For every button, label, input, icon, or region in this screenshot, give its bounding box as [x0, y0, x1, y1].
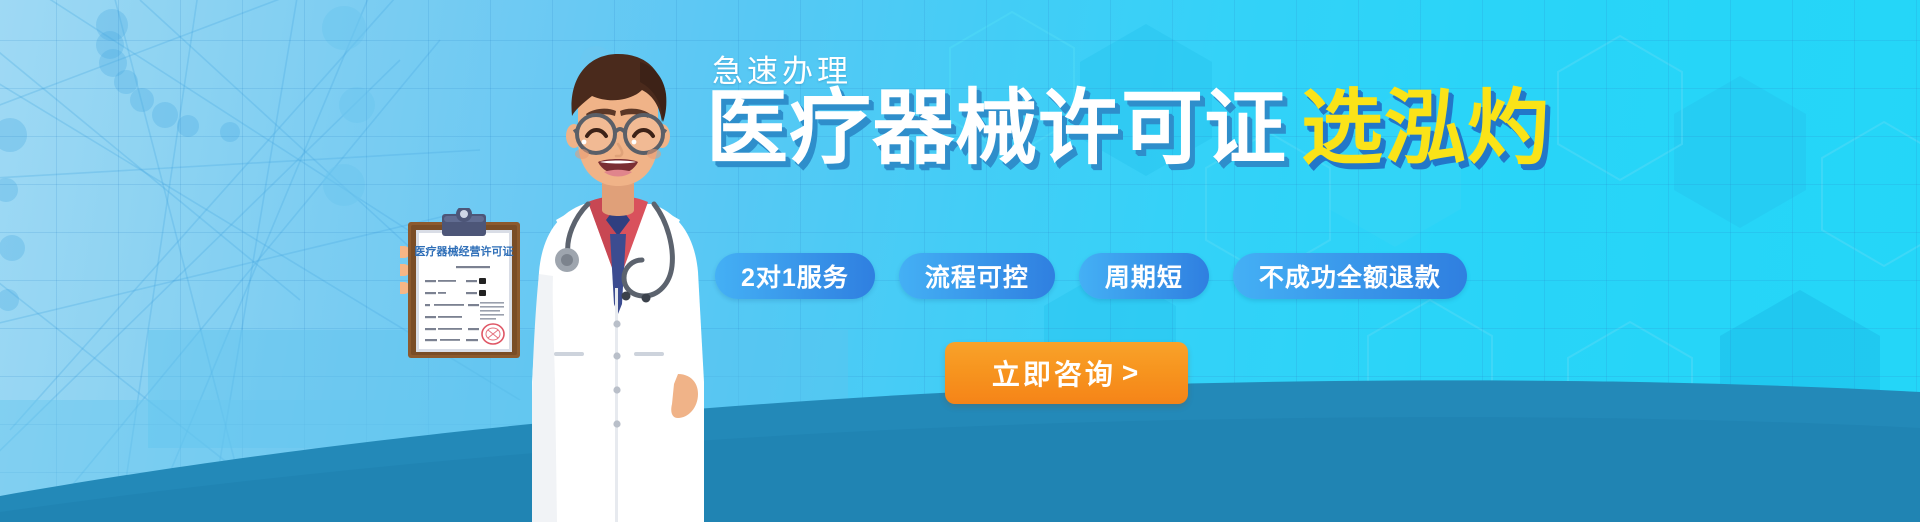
feature-pill-1[interactable]: 2对1服务 [715, 253, 875, 299]
doctor-illustration [522, 52, 732, 522]
consult-now-label: 立即咨询 [992, 353, 1116, 393]
feature-pill-3[interactable]: 周期短 [1079, 253, 1209, 299]
chevron-right-icon: > [1122, 357, 1141, 389]
feature-pill-4[interactable]: 不成功全额退款 [1233, 253, 1467, 299]
white-coat [532, 196, 704, 522]
banner-headline: 医疗器械许可证选泓灼 [706, 88, 1550, 170]
feature-pill-4-label: 不成功全额退款 [1259, 258, 1441, 294]
consult-now-button[interactable]: 立即咨询 > [945, 342, 1188, 404]
headline-highlight-text: 选泓灼 [1301, 83, 1550, 174]
banner-content: 急速办理 医疗器械许可证选泓灼 2对1服务 流程可控 周期短 不成功全额退款 立… [712, 0, 1612, 522]
feature-pill-3-label: 周期短 [1105, 258, 1183, 294]
promo-banner: 医疗器械经营许可证 [0, 0, 1920, 522]
license-document-title: 医疗器械经营许可证 [415, 244, 514, 258]
clipboard-illustration: 医疗器械经营许可证 [400, 208, 528, 360]
feature-pill-2-label: 流程可控 [925, 258, 1029, 294]
feature-pill-list: 2对1服务 流程可控 周期短 不成功全额退款 [715, 253, 1467, 299]
feature-pill-1-label: 2对1服务 [741, 258, 849, 294]
headline-primary-text: 医疗器械许可证 [706, 83, 1287, 174]
feature-pill-2[interactable]: 流程可控 [899, 253, 1055, 299]
